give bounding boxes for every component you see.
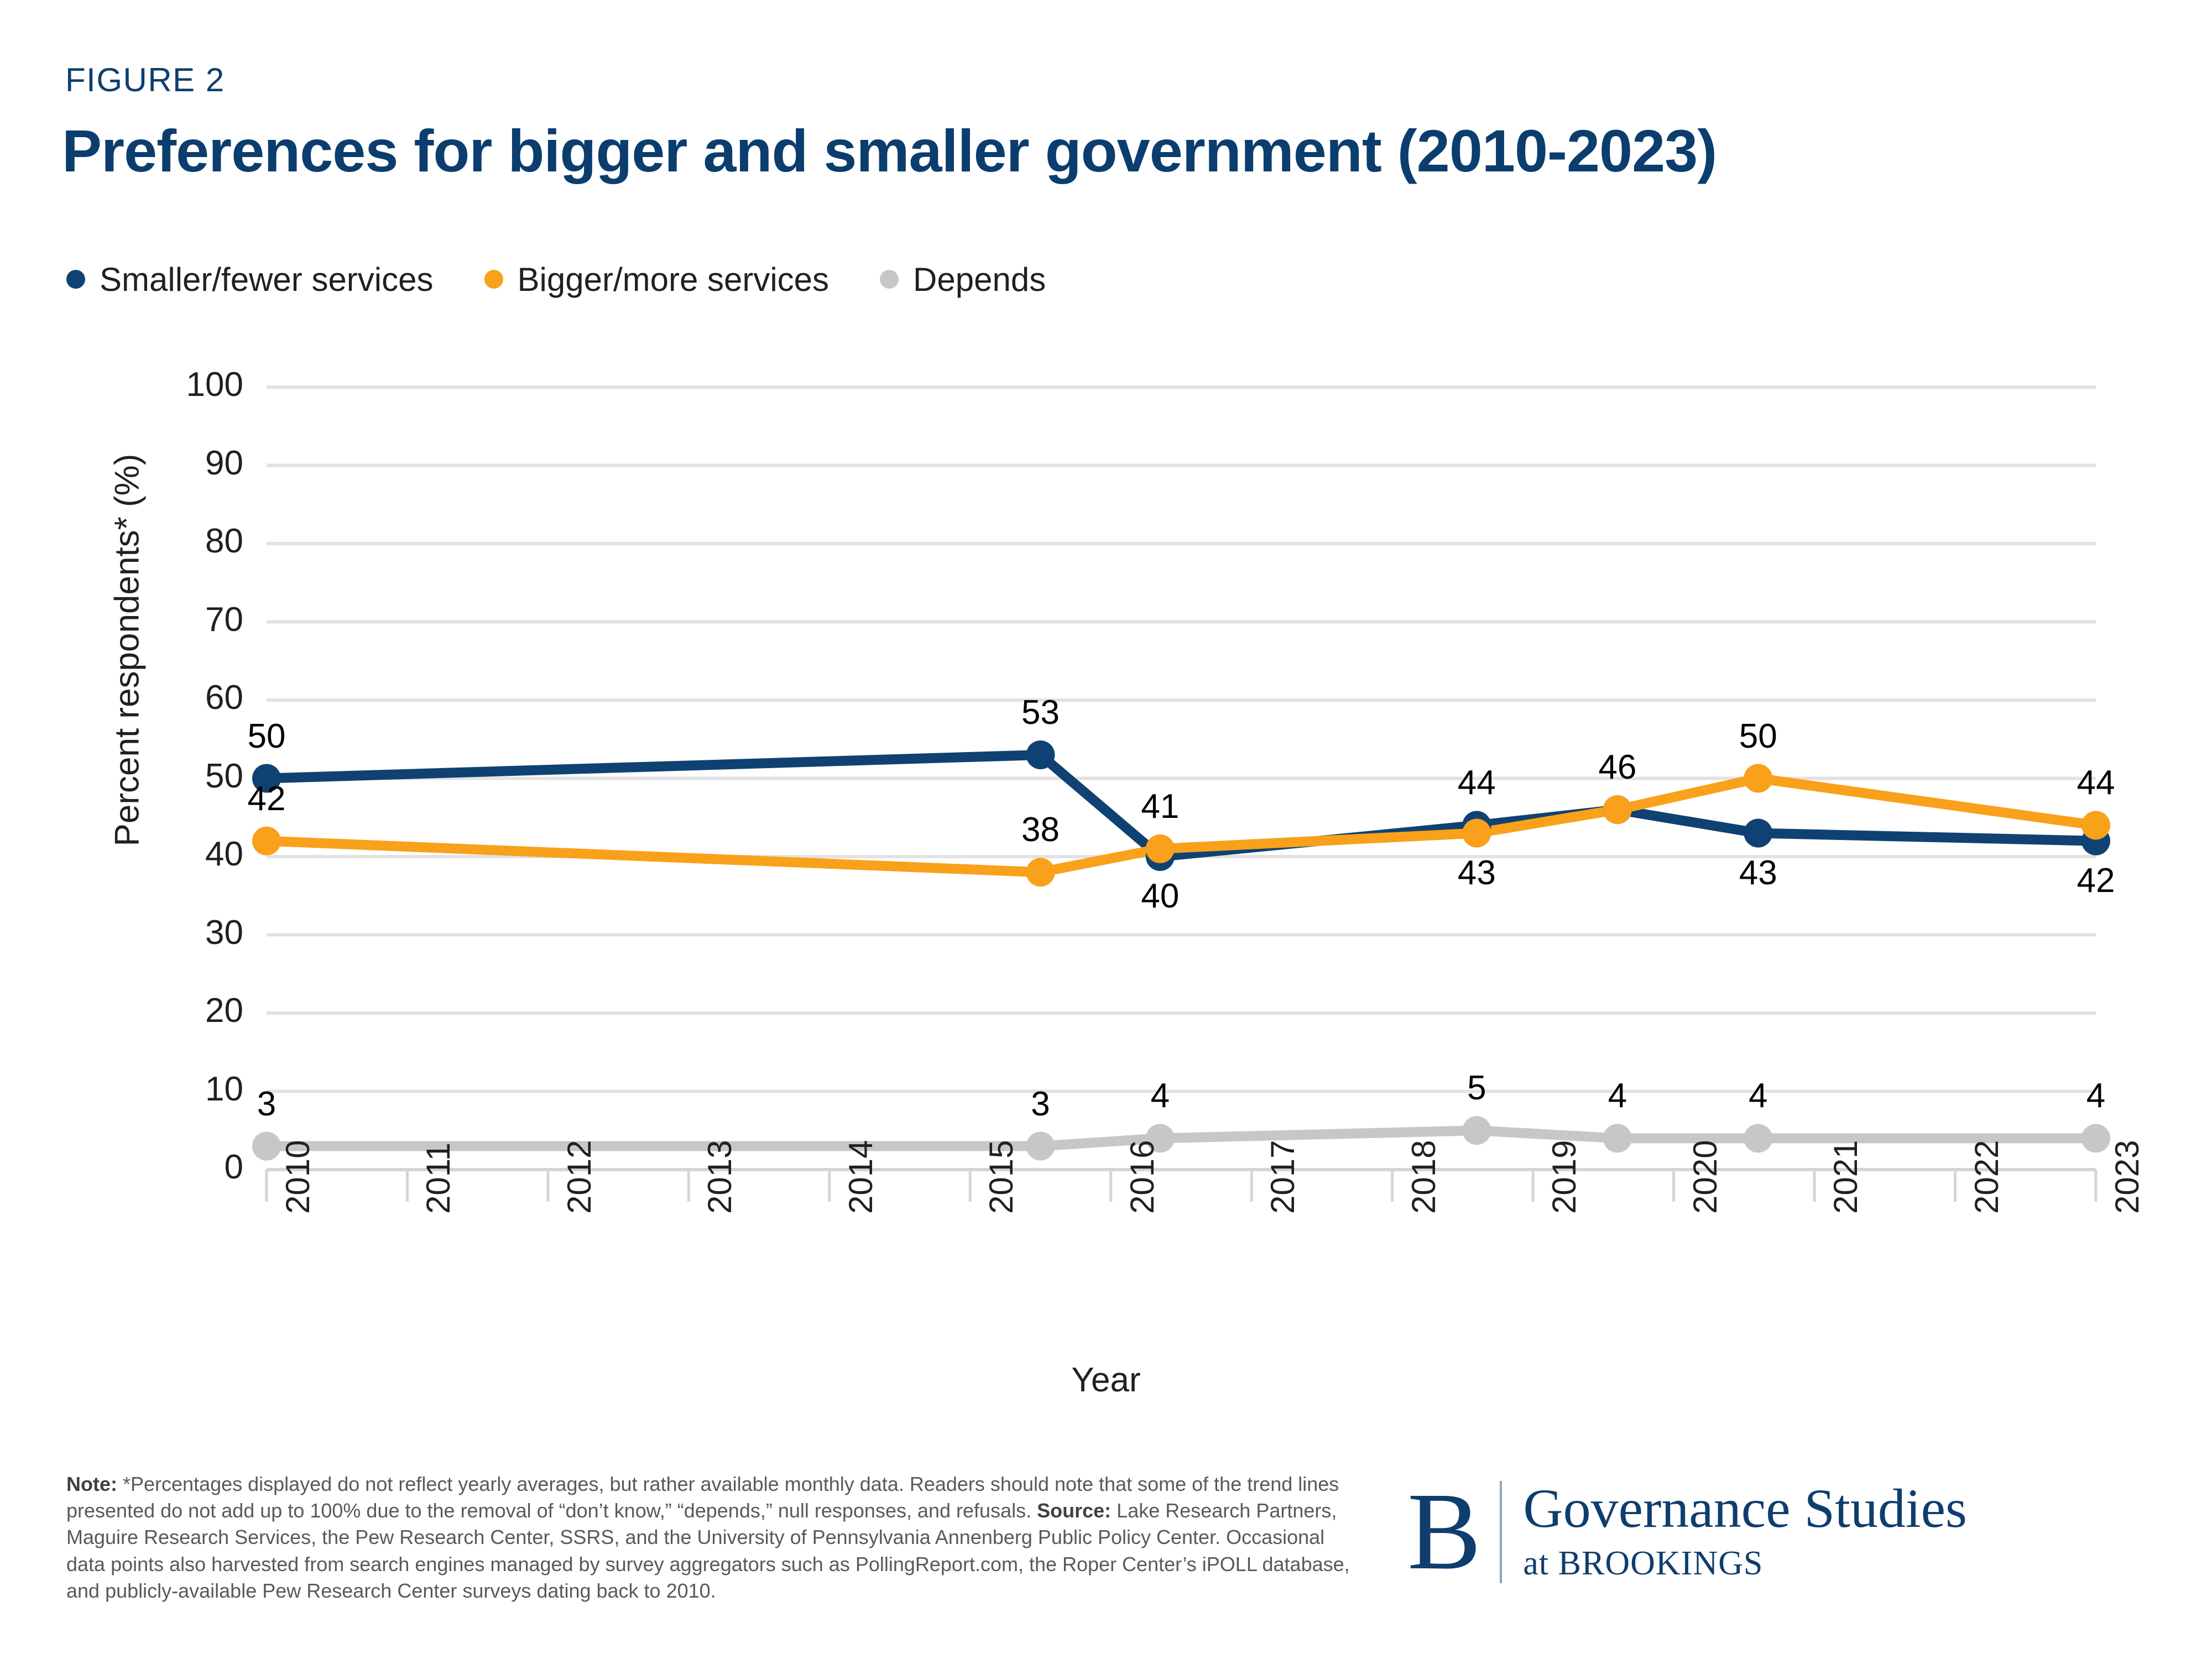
data-point-label: 43 [1458, 853, 1496, 893]
y-tick-label: 0 [225, 1147, 243, 1187]
x-tick-label: 2018 [1405, 1140, 1443, 1214]
data-point [1744, 819, 1772, 848]
data-point [1603, 795, 1632, 824]
data-point-label: 46 [1598, 748, 1636, 787]
x-tick-label: 2014 [842, 1140, 880, 1214]
data-point [1026, 740, 1055, 769]
data-point-label: 43 [1739, 853, 1777, 893]
data-point [1462, 1116, 1491, 1145]
x-tick-label: 2015 [982, 1140, 1020, 1214]
data-point-label: 41 [1141, 787, 1179, 826]
data-point-label: 50 [248, 717, 286, 756]
y-tick-label: 60 [205, 678, 243, 717]
x-axis-title: Year [0, 1360, 2212, 1400]
y-tick-label: 100 [186, 365, 243, 404]
data-point [1462, 819, 1491, 848]
data-point-label: 38 [1021, 810, 1060, 849]
data-point-label: 3 [257, 1084, 276, 1124]
x-tick-label: 2011 [419, 1142, 457, 1214]
data-point-label: 4 [1749, 1076, 1767, 1115]
x-tick-label: 2017 [1264, 1140, 1302, 1214]
data-point [2081, 811, 2110, 839]
data-point-label: 42 [2077, 861, 2115, 900]
y-tick-label: 80 [205, 521, 243, 561]
x-tick-label: 2021 [1827, 1140, 1865, 1214]
x-tick-label: 2016 [1123, 1140, 1161, 1214]
line-chart-svg [0, 0, 2212, 1659]
x-tick-label: 2012 [560, 1140, 598, 1214]
chart-plot-area: Percent respondents* (%) Year 1009080706… [0, 0, 2212, 1659]
data-point-label: 42 [248, 779, 286, 818]
data-point-label: 40 [1141, 877, 1179, 916]
y-tick-label: 40 [205, 834, 243, 874]
x-tick-label: 2010 [279, 1140, 317, 1214]
y-tick-label: 90 [205, 444, 243, 483]
data-point-label: 44 [1458, 763, 1496, 802]
data-point [1744, 764, 1772, 793]
x-tick-label: 2023 [2108, 1140, 2146, 1214]
y-tick-label: 70 [205, 600, 243, 639]
data-point-label: 4 [2086, 1076, 2105, 1115]
data-point [1744, 1124, 1772, 1152]
data-point-label: 50 [1739, 717, 1777, 756]
data-point-label: 5 [1467, 1068, 1486, 1108]
data-point [1603, 1124, 1632, 1152]
logo-divider [1500, 1481, 1502, 1583]
logo-org-name: at BROOKINGS [1523, 1543, 1967, 1584]
y-tick-label: 20 [205, 991, 243, 1030]
source-label: Source: [1037, 1499, 1111, 1522]
y-tick-label: 50 [205, 757, 243, 796]
data-point-label: 4 [1151, 1076, 1170, 1115]
data-point [252, 827, 281, 855]
footnote-block: Note: *Percentages displayed do not refl… [66, 1471, 1355, 1604]
brookings-monogram-icon: B [1407, 1485, 1481, 1579]
y-tick-label: 30 [205, 913, 243, 952]
y-tick-label: 10 [205, 1070, 243, 1109]
logo-program-name: Governance Studies [1523, 1479, 1967, 1537]
x-tick-label: 2013 [701, 1140, 739, 1214]
series-line-2 [267, 1130, 2096, 1146]
x-tick-label: 2019 [1545, 1140, 1583, 1214]
brookings-logo: B Governance Studies at BROOKINGS [1407, 1468, 1967, 1595]
series-line-0 [267, 755, 2096, 857]
logo-text: Governance Studies at BROOKINGS [1523, 1479, 1967, 1584]
data-point [2081, 1124, 2110, 1152]
y-axis-title: Percent respondents* (%) [108, 429, 147, 872]
data-point [252, 1132, 281, 1161]
data-point-label: 4 [1608, 1076, 1627, 1115]
x-tick-label: 2022 [1968, 1140, 2006, 1214]
note-label: Note: [66, 1473, 117, 1495]
data-point [1026, 858, 1055, 886]
data-point [1026, 1132, 1055, 1161]
x-tick-label: 2020 [1686, 1140, 1724, 1214]
data-point-label: 44 [2077, 763, 2115, 802]
data-point-label: 53 [1021, 693, 1060, 732]
data-point-label: 3 [1031, 1084, 1050, 1124]
data-point [1146, 834, 1175, 863]
